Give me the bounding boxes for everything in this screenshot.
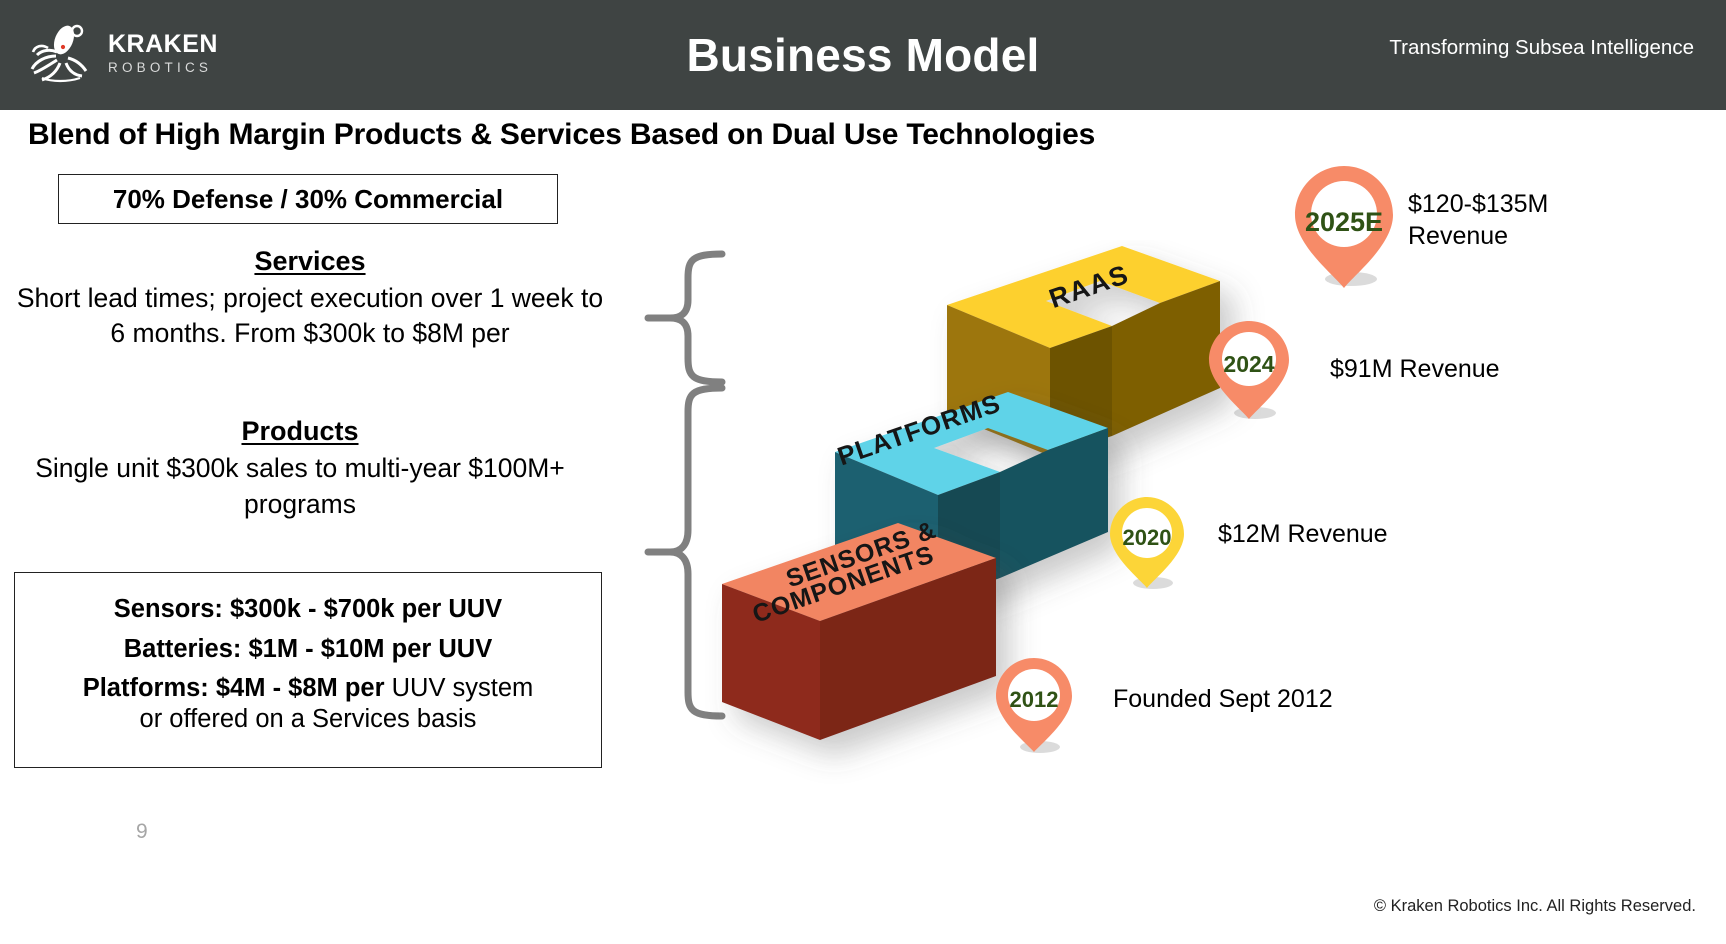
slide-root: KRAKEN ROBOTICS Business Model Transform… [0,0,1726,944]
page-number: 9 [136,820,148,844]
milestone-pin-2020: 2020 [1106,494,1188,591]
milestone-year-2025e: 2025E [1289,207,1399,238]
slide-header: KRAKEN ROBOTICS Business Model Transform… [0,0,1726,110]
pricing-line-platforms-bold: Platforms: $4M - $8M per [83,674,385,702]
products-heading: Products [10,416,590,447]
pricing-line-sensors-bold: Sensors: $300k - $700k per UUV [114,595,502,623]
pricing-line-batteries: Batteries: $1M - $10M per UUV [27,637,589,663]
pricing-box: Sensors: $300k - $700k per UUV Batteries… [14,572,602,768]
pricing-line-batteries-bold: Batteries: $1M - $10M per UUV [124,635,492,663]
mix-label: 70% Defense / 30% Commercial [113,184,503,215]
pricing-line-services-basis: or offered on a Services basis [27,704,589,736]
milestone-label-2020: $12M Revenue [1218,519,1388,551]
milestone-year-2012: 2012 [992,687,1076,713]
pricing-line-platforms: Platforms: $4M - $8M per UUV system [27,676,589,702]
diagram-block-sensors: SENSORS & COMPONENTS [722,516,996,740]
products-section: Products Single unit $300k sales to mult… [10,416,590,523]
milestone-year-2020: 2020 [1106,525,1188,551]
milestone-pin-2025e: 2025E [1289,163,1399,291]
milestone-label-2012: Founded Sept 2012 [1113,684,1333,716]
milestone-pin-2012: 2012 [992,655,1076,755]
slide-subtitle: Blend of High Margin Products & Services… [28,118,1095,152]
services-heading: Services [10,246,610,277]
header-tagline: Transforming Subsea Intelligence [1389,36,1694,60]
services-section: Services Short lead times; project execu… [10,246,610,351]
copyright-notice: © Kraken Robotics Inc. All Rights Reserv… [1374,897,1696,916]
services-body: Short lead times; project execution over… [10,281,610,351]
milestone-label-2025e: $120-$135M Revenue [1408,189,1548,252]
pricing-line-platforms-regular: UUV system [385,674,534,702]
products-body: Single unit $300k sales to multi-year $1… [10,451,590,523]
defense-commercial-mix-box: 70% Defense / 30% Commercial [58,174,558,224]
milestone-pin-2024: 2024 [1205,318,1293,422]
milestone-year-2024: 2024 [1205,351,1293,378]
milestone-label-2024: $91M Revenue [1330,354,1500,386]
pricing-line-sensors: Sensors: $300k - $700k per UUV [27,597,589,623]
